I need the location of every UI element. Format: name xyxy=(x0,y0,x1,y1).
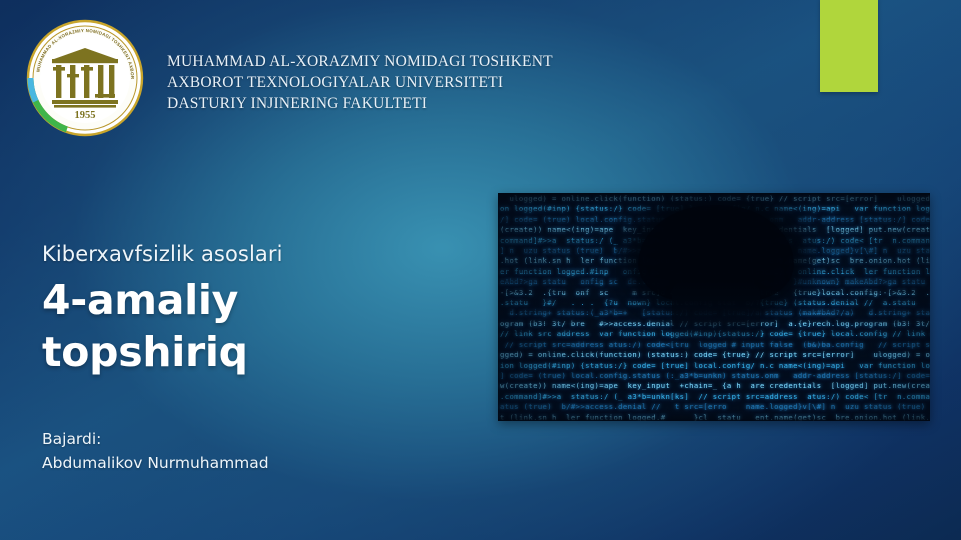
code-line: atus (true) b/#>>access.denial // t src=… xyxy=(500,402,930,412)
page-title-line-2: topshiriq xyxy=(42,326,462,378)
page-title: 4-amaliy topshiriq xyxy=(42,274,462,378)
slide-header: MUHAMMAD AL-XORAZMIY NOMIDAGI TOSHKENT A… xyxy=(25,18,553,138)
code-line: ion logged(#inp) {status:/} code= [true]… xyxy=(500,361,930,371)
code-line: command]#>>a status:/ (_ a3*b=unkn[ks] /… xyxy=(500,236,930,246)
code-line: ulogged) = online.click(function) (statu… xyxy=(500,194,930,204)
code-line: d.string+ status:(_a3*b=+ [status:/) cod… xyxy=(500,308,930,318)
university-name-line-2: AXBOROT TEXNOLOGIYALAR UNIVERSITETI xyxy=(167,72,553,93)
code-line: /] code= (true) local.config.status (:_a… xyxy=(500,215,930,225)
code-line: (create)) name<(ing)=ape key_input +chai… xyxy=(500,225,930,235)
cybersecurity-image: ulogged) = online.click(function) (statu… xyxy=(498,193,930,421)
page-title-line-1: 4-amaliy xyxy=(42,274,462,326)
author-block: Bajardi: Abdumalikov Nurmuhammad xyxy=(42,427,269,475)
code-line: // script src=address atus:/) code<[tru … xyxy=(500,340,930,350)
code-line: on logged(#inp) {status:/} code= [true] … xyxy=(500,204,930,214)
code-line: w(create)) name<(ing)=ape key_input +cha… xyxy=(500,381,930,391)
university-name-block: MUHAMMAD AL-XORAZMIY NOMIDAGI TOSHKENT A… xyxy=(167,51,553,114)
code-line: ogram (b3! 3t/ bre #>>access.denial // s… xyxy=(500,319,930,329)
code-line: ] code= (true) local.config.status (:_a3… xyxy=(500,371,930,381)
faculty-name-line: DASTURIY INJINERING FAKULTETI xyxy=(167,93,553,114)
code-line: ] n uzu status (true) b/#>>access.denial… xyxy=(500,246,930,256)
code-line: t (link.sn h ler function logged.# }cl s… xyxy=(500,413,930,421)
code-line: .hot (link.sn h ler function logged.# }c… xyxy=(500,256,930,266)
code-text-layer: ulogged) = online.click(function) (statu… xyxy=(498,193,930,421)
subject-name: Kiberxavfsizlik asoslari xyxy=(42,240,462,268)
author-name: Abdumalikov Nurmuhammad xyxy=(42,451,269,475)
accent-green-rectangle xyxy=(820,0,878,92)
code-line: .statu }#/ . . . {?u nown} local.config … xyxy=(500,298,930,308)
code-line: .command]#>>a status:/ (_ a3*b=unkn[ks] … xyxy=(500,392,930,402)
presentation-slide: MUHAMMAD AL-XORAZMIY NOMIDAGI TOSHKENT A… xyxy=(0,0,961,540)
tatu-emblem-icon: MUHAMMAD AL-XORAZMIY NOMIDAGI TOSHKENT A… xyxy=(25,18,145,138)
university-name-line-1: MUHAMMAD AL-XORAZMIY NOMIDAGI TOSHKENT xyxy=(167,51,553,72)
code-line: er function logged.#inp onfig sc tue.(ne… xyxy=(500,267,930,277)
university-logo: MUHAMMAD AL-XORAZMIY NOMIDAGI TOSHKENT A… xyxy=(25,18,145,138)
code-line: gged) = online.click(function) (status:)… xyxy=(500,350,930,360)
emblem-year: 1955 xyxy=(75,110,96,121)
title-block: Kiberxavfsizlik asoslari 4-amaliy topshi… xyxy=(42,240,462,378)
author-label: Bajardi: xyxy=(42,427,269,451)
code-line: // link src address var function logged(… xyxy=(500,329,930,339)
code-line: -[>&3.2 .{tru onf sc m src]d #>>access: … xyxy=(500,288,930,298)
code-line: eAbd?>ga statu onfig sc de.logged {t r/w… xyxy=(500,277,930,287)
